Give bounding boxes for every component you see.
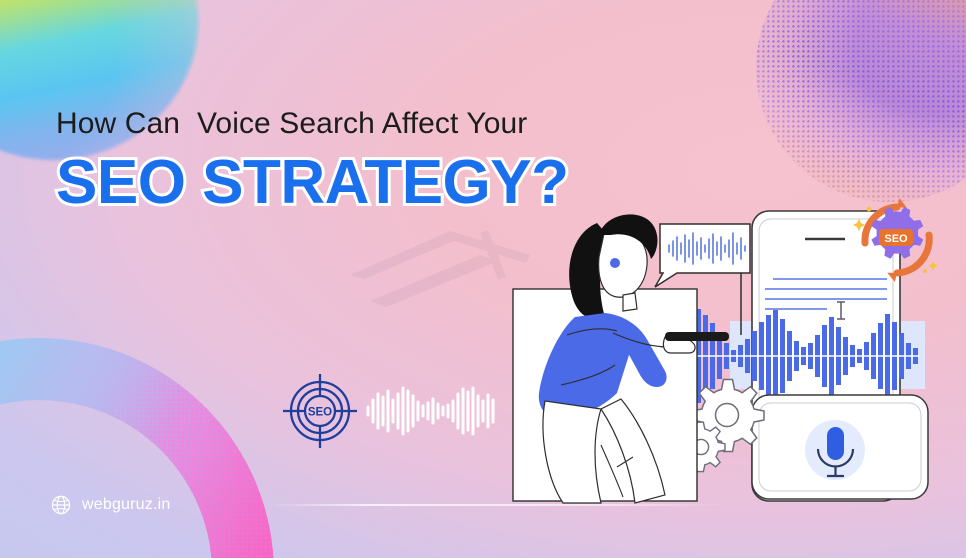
- voice-search-illustration: SEO: [505, 195, 945, 520]
- voice-search-seo-banner: How Can Voice Search Affect Your SEO STR…: [0, 0, 966, 558]
- voice-waveform-white: [365, 380, 497, 442]
- gradient-arc-cyan-segment: [0, 338, 274, 558]
- seo-target-icon: SEO: [279, 370, 361, 452]
- page-title-main: SEO STRATEGY?: [56, 147, 569, 218]
- brand-logo[interactable]: webguruz.in: [50, 494, 170, 516]
- mic-card: [752, 395, 928, 499]
- halftone-dots-top-right: [756, 0, 966, 202]
- globe-icon: [50, 494, 72, 516]
- seo-badge-label: SEO: [884, 233, 908, 245]
- page-title-subline: How Can Voice Search Affect Your: [56, 107, 569, 141]
- seo-target-label: SEO: [308, 407, 332, 419]
- voice-waveform-bubble: [655, 224, 750, 287]
- headline-group: How Can Voice Search Affect Your SEO STR…: [56, 107, 569, 218]
- brand-logo-text: webguruz.in: [82, 496, 170, 514]
